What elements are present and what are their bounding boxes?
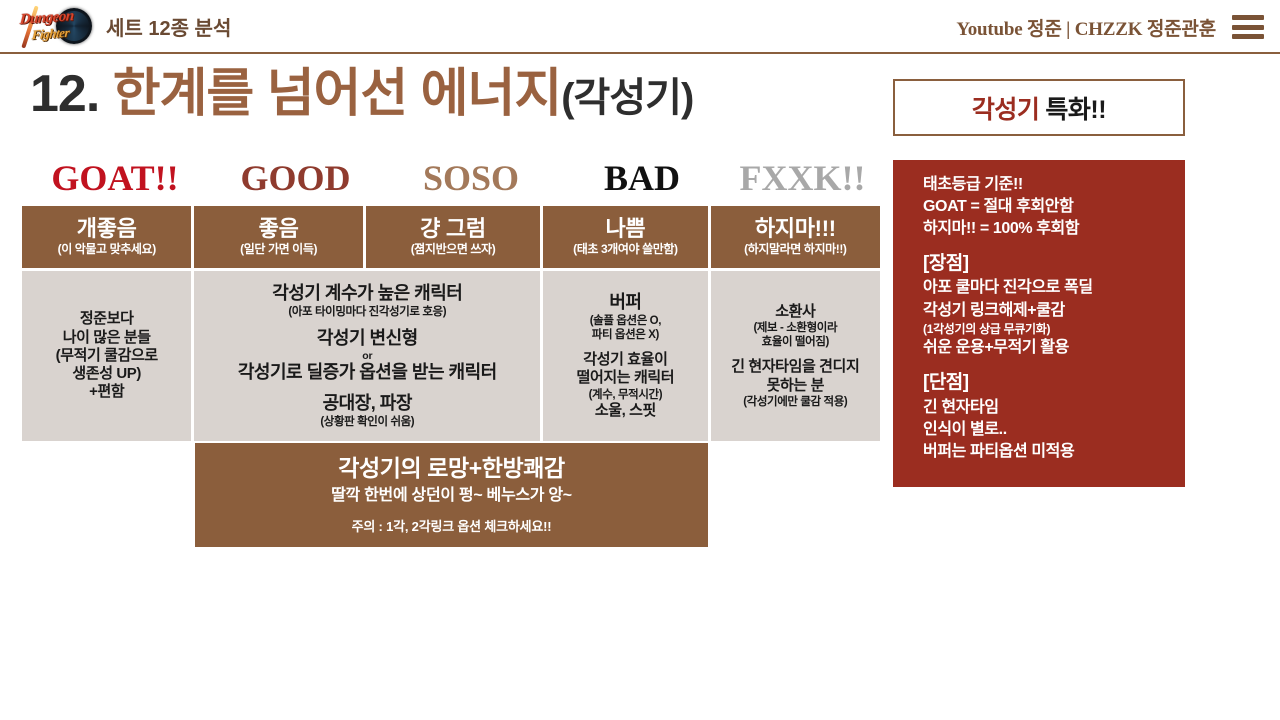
pros-cons-line-13: 버퍼는 파티옵션 미적용	[923, 441, 1185, 463]
brand-group: Dungeon Fighter 세트 12종 분석	[18, 1, 231, 51]
grade-table: 개좋음(이 악물고 맞추세요)좋음(일단 가면 이득)걍 그럼(졈지반으면 쓰자…	[22, 206, 880, 441]
slide-root: Dungeon Fighter 세트 12종 분석 Youtube 정준 | C…	[0, 0, 1280, 720]
grade-header-title-4: 하지마!!!	[755, 217, 836, 241]
pros-cons-panel: 태초등급 기준!!GOAT = 절대 후회안함하지마!! = 100% 후회함[…	[893, 160, 1185, 487]
pros-cons-line-11: 긴 현자타임	[923, 397, 1185, 419]
rating-labels-row: GOAT!!GOODSOSOBADFXXK!!	[22, 152, 880, 204]
grade-header-subtitle-0: (이 악물고 맞추세요)	[58, 242, 156, 257]
pros-cons-line-12: 인식이 별로..	[923, 419, 1185, 441]
pros-cons-line-4: [장점]	[923, 251, 1185, 277]
grade-cell-1-line-8: (상황판 확인이 쉬움)	[320, 415, 414, 429]
grade-cell-2-line-7: 소울, 스핏	[595, 402, 656, 420]
logo-word-fighter: Fighter	[31, 25, 69, 44]
grade-header-title-2: 걍 그럼	[420, 217, 486, 241]
hamburger-bar-3	[1232, 34, 1264, 39]
grade-cell-3-line-4: 긴 현자타임을 견디지	[731, 358, 859, 376]
pros-cons-line-3	[923, 240, 1185, 251]
summary-banner-line-1: 각성기의 로망+한방쾌감	[338, 455, 565, 483]
grade-table-header-row: 개좋음(이 악물고 맞추세요)좋음(일단 가면 이득)걍 그럼(졈지반으면 쓰자…	[22, 206, 880, 268]
grade-cell-2-line-1: (솔플 옵션은 O,	[590, 314, 661, 328]
grade-body-cell-2: 버퍼(솔플 옵션은 O,파티 옵션은 X)각성기 효율이떨어지는 캐릭터(계수,…	[543, 271, 707, 441]
grade-cell-1-line-4: or	[362, 350, 372, 363]
grade-header-subtitle-1: (일단 가면 이득)	[240, 242, 317, 257]
dungeon-fighter-logo-icon: Dungeon Fighter	[18, 3, 96, 49]
top-bar-right: Youtube 정준 | CHZZK 정준관훈	[956, 0, 1264, 54]
pros-cons-line-7: (1각성기의 상급 무큐기화)	[923, 322, 1185, 338]
grade-header-cell-3: 나쁨(태초 3개여야 쓸만함)	[543, 206, 707, 268]
grade-cell-2-line-5: 떨어지는 캐릭터	[577, 369, 675, 387]
specialization-badge-highlight: 각성기	[972, 90, 1040, 126]
grade-header-title-3: 나쁨	[605, 217, 645, 241]
grade-cell-0-line-1: 나이 많은 분들	[63, 329, 151, 347]
pros-cons-line-9	[923, 359, 1185, 370]
grade-body-cell-3: 소환사(제보 - 소환형이라효율이 떨어짐)긴 현자타임을 견디지못하는 분(각…	[711, 271, 880, 441]
grade-header-subtitle-3: (태초 3개여야 쓸만함)	[573, 242, 677, 257]
hamburger-bar-2	[1232, 25, 1264, 30]
grade-cell-1-line-5: 각성기로 딜증가 옵션을 받는 캐릭터	[238, 362, 497, 384]
title-main: 한계를 넘어선 에너지	[113, 65, 561, 123]
pros-cons-line-5: 아포 쿨마다 진각으로 폭딜	[923, 277, 1185, 299]
grade-cell-1-line-3: 각성기 변신형	[317, 328, 418, 350]
grade-header-subtitle-2: (졈지반으면 쓰자)	[411, 242, 496, 257]
grade-header-cell-2: 걍 그럼(졈지반으면 쓰자)	[366, 206, 540, 268]
pros-cons-line-6: 각성기 링크해제+쿨감	[923, 300, 1185, 322]
grade-table-body-row: 정준보다나이 많은 분들(무적기 쿨감으로생존성 UP)+편함각성기 계수가 높…	[22, 271, 880, 441]
rating-label-1: GOOD	[208, 152, 383, 204]
title-number: 12.	[30, 65, 99, 123]
grade-cell-3-line-1: (제보 - 소환형이라	[753, 321, 837, 335]
grade-cell-3-line-5: 못하는 분	[767, 377, 824, 395]
page-title: 12. 한계를 넘어선 에너지(각성기)	[30, 68, 693, 120]
pros-cons-line-0: 태초등급 기준!!	[923, 174, 1185, 196]
grade-cell-2-line-4: 각성기 효율이	[583, 351, 667, 369]
summary-banner: 각성기의 로망+한방쾌감 딸깍 한번에 상던이 펑~ 베누스가 앙~ 주의 : …	[195, 443, 708, 547]
grade-cell-2-line-0: 버퍼	[609, 292, 641, 314]
channel-credit: Youtube 정준 | CHZZK 정준관훈	[956, 14, 1216, 41]
grade-header-title-1: 좋음	[259, 217, 299, 241]
grade-cell-0-line-3: 생존성 UP)	[72, 365, 141, 383]
grade-header-cell-4: 하지마!!!(하지말라면 하지마!!)	[711, 206, 880, 268]
specialization-badge-label: 특화!!	[1045, 90, 1106, 126]
grade-header-subtitle-4: (하지말라면 하지마!!)	[744, 242, 846, 257]
grade-cell-1-line-0: 각성기 계수가 높은 캐릭터	[272, 283, 462, 305]
top-bar: Dungeon Fighter 세트 12종 분석 Youtube 정준 | C…	[0, 0, 1280, 54]
grade-cell-2-line-2: 파티 옵션은 X)	[592, 328, 659, 342]
grade-cell-3-line-0: 소환사	[775, 303, 815, 321]
grade-header-cell-0: 개좋음(이 악물고 맞추세요)	[22, 206, 191, 268]
pros-cons-line-2: 하지마!! = 100% 후회함	[923, 218, 1185, 240]
summary-banner-line-3: 주의 : 1각, 2각링크 옵션 체크하세요!!	[352, 516, 552, 535]
rating-label-0: GOAT!!	[22, 152, 208, 204]
grade-body-cell-0: 정준보다나이 많은 분들(무적기 쿨감으로생존성 UP)+편함	[22, 271, 191, 441]
grade-cell-0-line-4: +편함	[89, 383, 124, 401]
rating-label-3: BAD	[559, 152, 725, 204]
grade-cell-2-line-6: (계수, 무적시간)	[589, 388, 663, 402]
grade-cell-1-line-7: 공대장, 파장	[323, 393, 412, 415]
title-paren: (각성기)	[561, 76, 693, 120]
grade-cell-0-line-0: 정준보다	[80, 310, 134, 328]
grade-header-title-0: 개좋음	[77, 217, 137, 241]
grade-cell-1-line-1: (아포 타이밍마다 진각성기로 호응)	[288, 305, 446, 319]
rating-label-2: SOSO	[383, 152, 559, 204]
pros-cons-line-8: 쉬운 운용+무적기 활용	[923, 337, 1185, 359]
brand-title: 세트 12종 분석	[106, 12, 231, 41]
pros-cons-line-1: GOAT = 절대 후회안함	[923, 196, 1185, 218]
grade-cell-3-line-2: 효율이 떨어짐)	[762, 335, 829, 349]
specialization-badge: 각성기 특화!!	[893, 79, 1185, 136]
grade-body-cell-1: 각성기 계수가 높은 캐릭터(아포 타이밍마다 진각성기로 호응)각성기 변신형…	[194, 271, 540, 441]
grade-header-cell-1: 좋음(일단 가면 이득)	[194, 206, 362, 268]
pros-cons-line-10: [단점]	[923, 370, 1185, 396]
hamburger-icon[interactable]	[1232, 15, 1264, 39]
grade-cell-0-line-2: (무적기 쿨감으로	[56, 347, 158, 365]
rating-label-4: FXXK!!	[725, 152, 880, 204]
hamburger-bar-1	[1232, 15, 1264, 20]
summary-banner-line-2: 딸깍 한번에 상던이 펑~ 베누스가 앙~	[331, 484, 572, 508]
grade-cell-3-line-6: (각성기에만 쿨감 적용)	[743, 395, 847, 409]
